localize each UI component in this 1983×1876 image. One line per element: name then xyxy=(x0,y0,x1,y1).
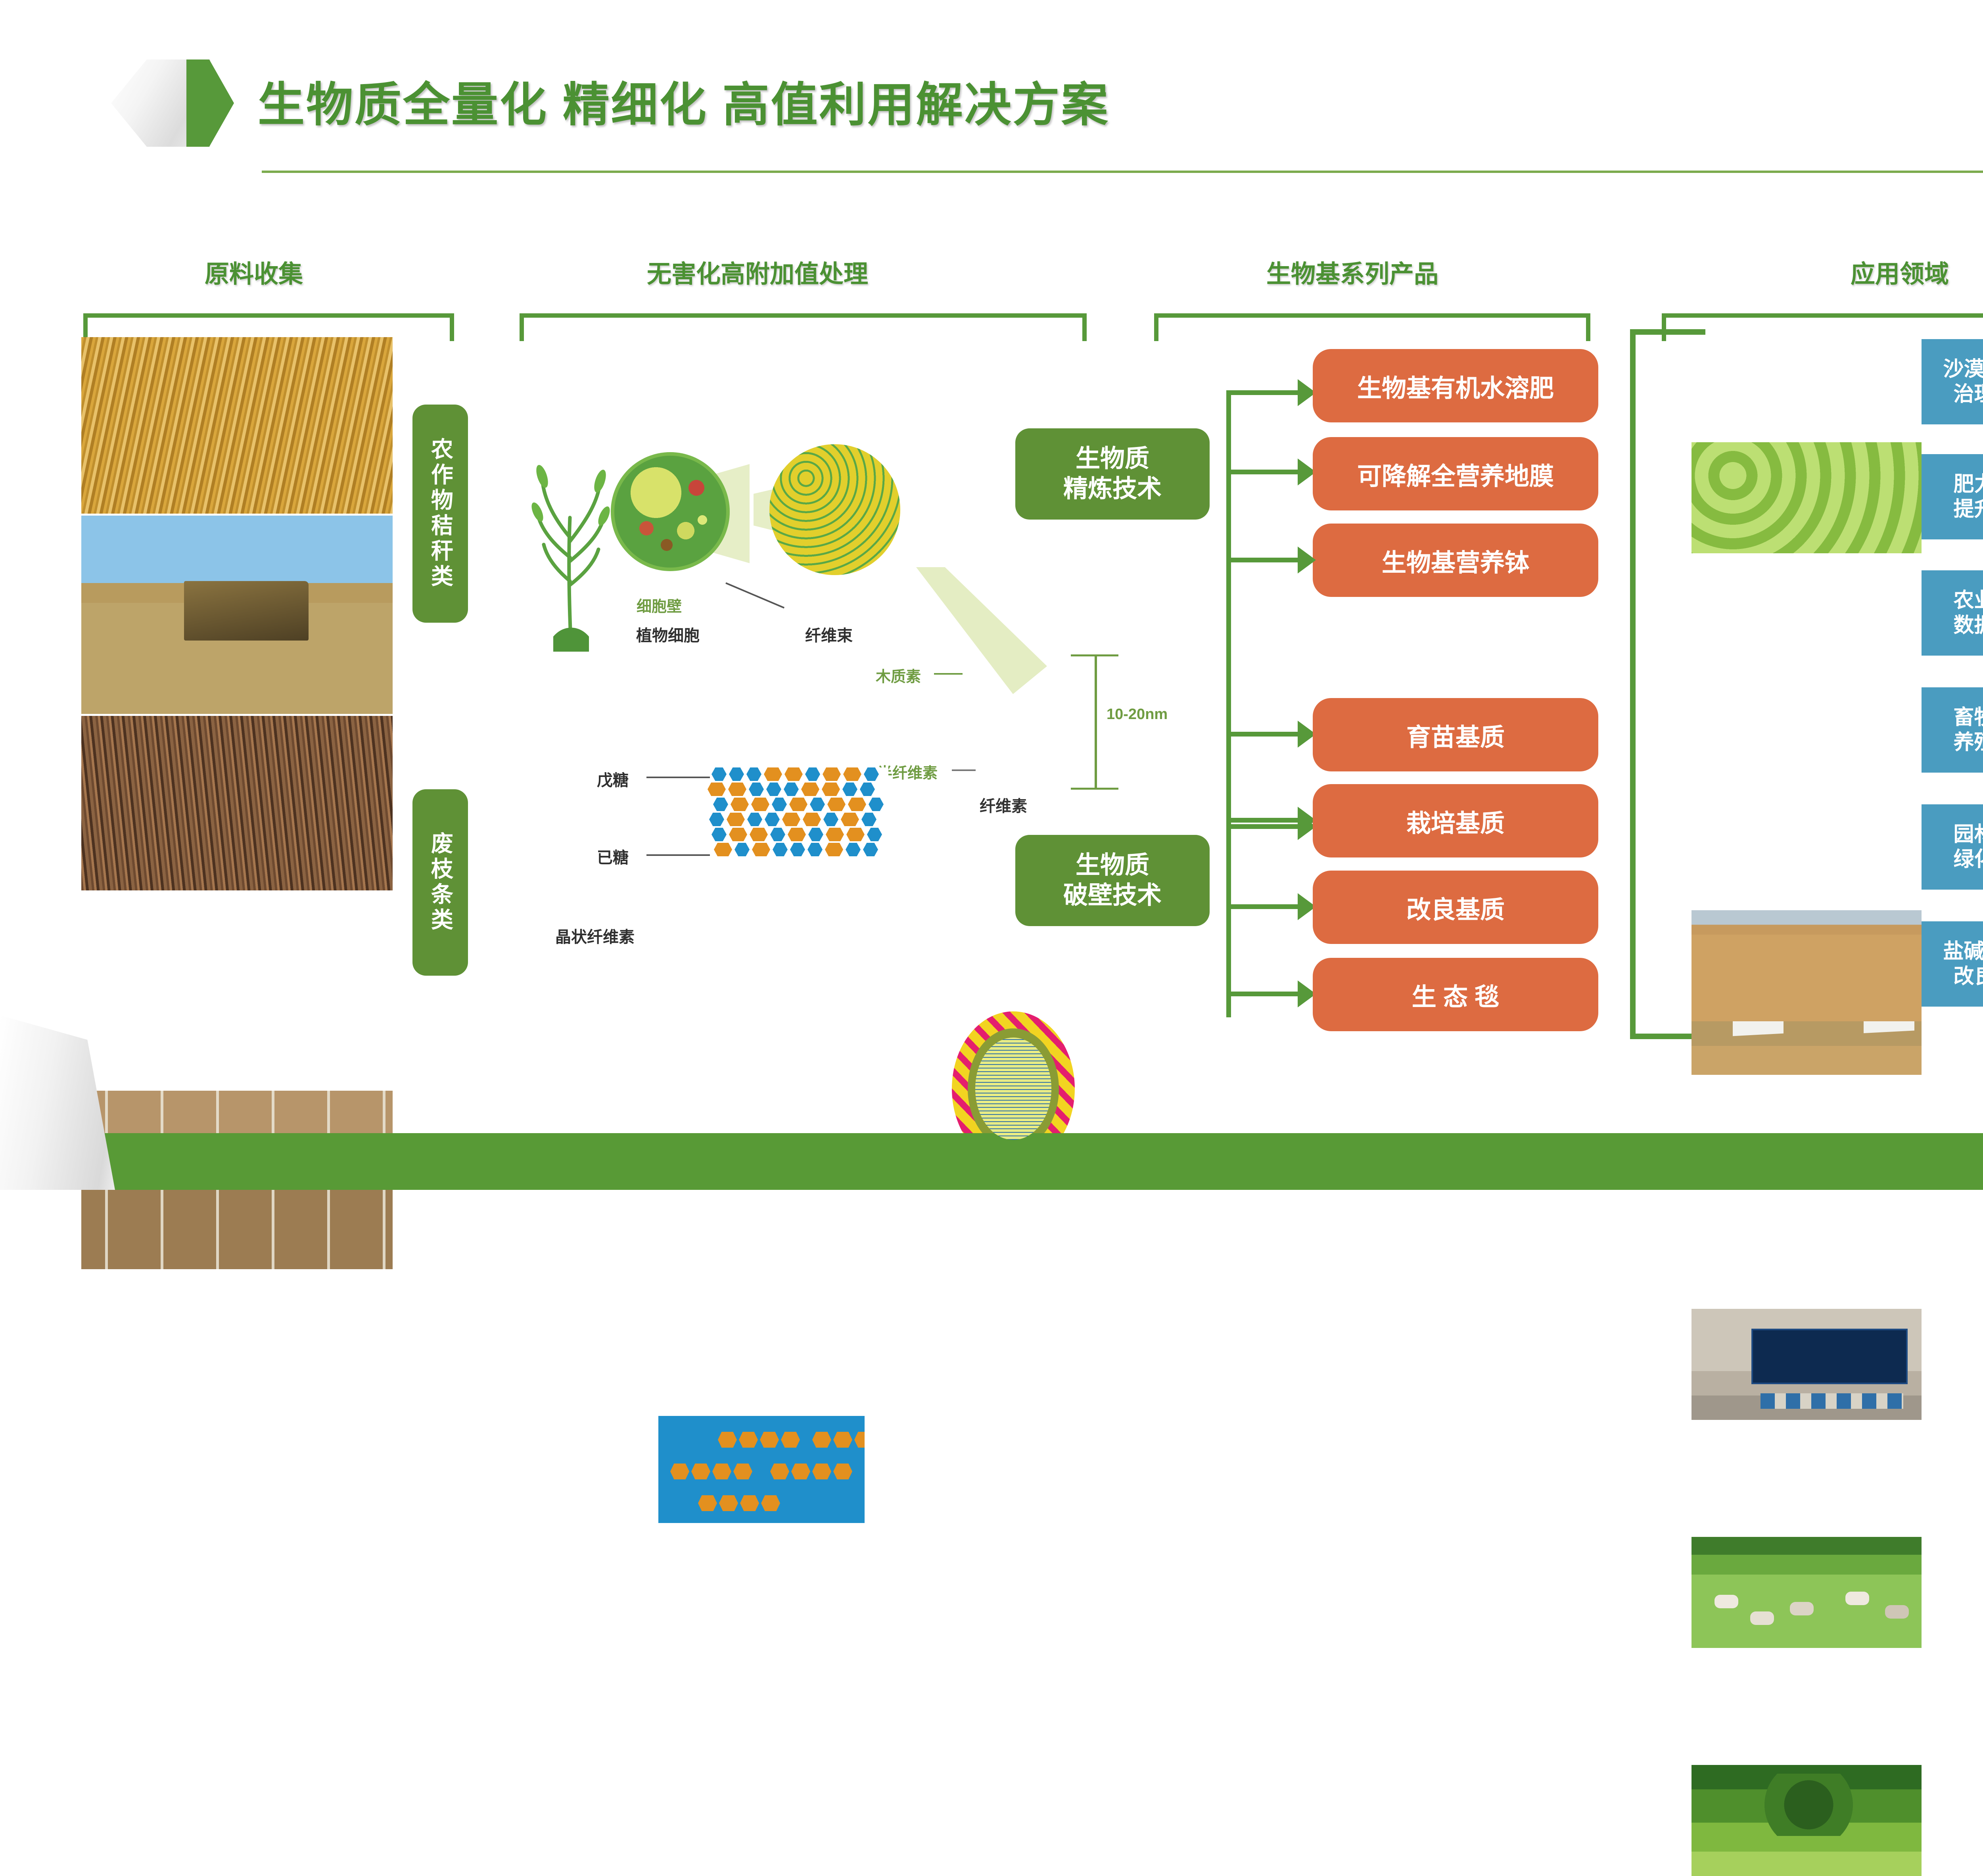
product-box-bio-based-nutrient-pot[interactable]: 生物基营养钵 xyxy=(1313,524,1598,597)
application-line-2: 数据 xyxy=(1953,613,1983,638)
arrow-refining-product-3b xyxy=(1298,547,1316,574)
fiber-bundle-diagram xyxy=(769,444,900,575)
application-line-2: 治理 xyxy=(1953,382,1983,407)
connector-branch-wall-breaking-1 xyxy=(1226,732,1302,737)
application-label-agricultural-data[interactable]: 农业 数据 xyxy=(1922,570,1983,656)
application-line-1: 园林 xyxy=(1953,822,1983,847)
sugar-chain-diagram xyxy=(710,767,888,871)
application-line-2: 提升 xyxy=(1953,497,1983,522)
application-line-2: 绿化 xyxy=(1953,847,1983,872)
column-heading-bio-based-product-series: 生物基系列产品 xyxy=(1150,254,1555,290)
raw-material-label-crop-straw: 农作物秸秆类 xyxy=(412,405,468,623)
scale-bar-bottom-tick xyxy=(1071,788,1118,790)
cell-wall-leader-line xyxy=(725,582,784,608)
application-line-2: 养殖 xyxy=(1953,730,1983,755)
tech-box-biomass-wall-breaking[interactable]: 生物质 破壁技术 xyxy=(1015,835,1210,926)
application-line-1: 盐碱地 xyxy=(1943,939,1983,964)
scale-bar-vertical xyxy=(1095,654,1097,789)
scale-bar-top-tick xyxy=(1071,654,1118,656)
header-arrow-decoration xyxy=(186,59,234,147)
photo-landscape-greening xyxy=(1691,1765,1922,1876)
label-pentose: 戊糖 xyxy=(597,767,629,790)
footer-wedge-decoration xyxy=(0,1015,115,1190)
connector-branch-refining-1 xyxy=(1226,390,1302,395)
label-crystalline-cellulose: 晶状纤维素 xyxy=(555,924,635,947)
hexose-leader-line xyxy=(646,854,710,856)
application-label-desertification-control[interactable]: 沙漠化 治理 xyxy=(1922,339,1983,424)
connector-branch-refining-2 xyxy=(1226,470,1302,474)
label-plant-cell: 植物细胞 xyxy=(636,623,700,646)
label-cell-wall: 细胞壁 xyxy=(637,594,682,616)
bracket-bio-based-product-series xyxy=(1154,313,1590,341)
photo-saline-alkali-land xyxy=(1691,910,1922,1021)
label-lignin: 木质素 xyxy=(876,664,921,686)
application-line-2: 改良 xyxy=(1953,964,1983,989)
pentose-leader-line xyxy=(646,777,710,778)
label-fiber-scale: 10-20nm xyxy=(1107,706,1168,723)
connector-branch-refining-3 xyxy=(1226,824,1302,829)
application-label-livestock-breeding[interactable]: 畜牧 养殖 xyxy=(1922,687,1983,773)
beam-fiber-to-crosssection xyxy=(916,567,1047,694)
lignin-leader-line xyxy=(934,673,963,675)
photo-straw-bale-field xyxy=(81,516,393,714)
connector-spine-wall-breaking xyxy=(1226,732,1231,1017)
product-box-seedling-substrate[interactable]: 育苗基质 xyxy=(1313,698,1598,771)
photo-sheep-pasture xyxy=(1691,1537,1922,1648)
photo-agriculture-data-center xyxy=(1691,1309,1922,1420)
applications-bracket-spine xyxy=(1630,329,1636,1039)
application-line-1: 农业 xyxy=(1953,588,1983,613)
label-cellulose: 纤维素 xyxy=(980,793,1027,816)
connector-branch-wall-breaking-4 xyxy=(1226,992,1302,996)
photo-pruned-branches-pile xyxy=(81,716,393,890)
product-box-degradable-full-nutrient-mulch-film[interactable]: 可降解全营养地膜 xyxy=(1313,437,1598,510)
tech-box-biomass-refining[interactable]: 生物质 精炼技术 xyxy=(1015,428,1210,520)
tech-line-2: 精炼技术 xyxy=(1063,474,1162,504)
connector-branch-refining-3b xyxy=(1226,558,1302,562)
raw-material-label-waste-branches: 废枝条类 xyxy=(412,789,468,976)
plant-cell-diagram xyxy=(611,452,730,571)
tech-line-2: 破壁技术 xyxy=(1063,880,1162,911)
application-label-saline-alkali-improvement[interactable]: 盐碱地 改良 xyxy=(1922,921,1983,1007)
plant-illustration xyxy=(506,438,637,652)
application-label-fertility-improvement[interactable]: 肥力 提升 xyxy=(1922,454,1983,539)
column-heading-harmless-high-value-processing: 无害化高附加值处理 xyxy=(524,254,991,290)
applications-bracket-top-arm xyxy=(1630,329,1705,335)
bracket-application-fields xyxy=(1662,313,1983,341)
application-line-1: 畜牧 xyxy=(1953,705,1983,730)
tech-line-1: 生物质 xyxy=(1076,850,1149,880)
application-line-1: 沙漠化 xyxy=(1943,357,1983,382)
column-heading-raw-material-collection: 原料收集 xyxy=(135,254,373,290)
bracket-harmless-high-value-processing xyxy=(520,313,1087,341)
label-fiber-bundle: 纤维束 xyxy=(805,623,853,646)
photo-cabbage-field xyxy=(1691,442,1922,553)
tech-line-1: 生物质 xyxy=(1076,444,1149,474)
label-hexose: 已糖 xyxy=(597,845,629,868)
connector-branch-wall-breaking-3 xyxy=(1226,904,1302,909)
footer-green-bar xyxy=(79,1133,1983,1190)
hemicellulose-leader-line xyxy=(952,769,976,771)
connector-branch-wall-breaking-2 xyxy=(1226,818,1302,823)
product-box-improvement-substrate[interactable]: 改良基质 xyxy=(1313,871,1598,944)
application-line-1: 肥力 xyxy=(1953,472,1983,497)
page-title: 生物质全量化 精细化 高值利用解决方案 xyxy=(258,67,1110,134)
application-label-landscape-greening[interactable]: 园林 绿化 xyxy=(1922,804,1983,890)
product-box-ecological-blanket[interactable]: 生 态 毯 xyxy=(1313,958,1598,1031)
title-underline-rule xyxy=(262,171,1983,173)
column-heading-application-fields: 应用领域 xyxy=(1721,254,1983,290)
product-box-bio-organic-water-soluble-fertilizer[interactable]: 生物基有机水溶肥 xyxy=(1313,349,1598,422)
crystalline-cellulose-diagram xyxy=(658,1416,865,1523)
photo-corn-straw-field xyxy=(81,337,393,514)
product-box-cultivation-substrate[interactable]: 栽培基质 xyxy=(1313,784,1598,857)
